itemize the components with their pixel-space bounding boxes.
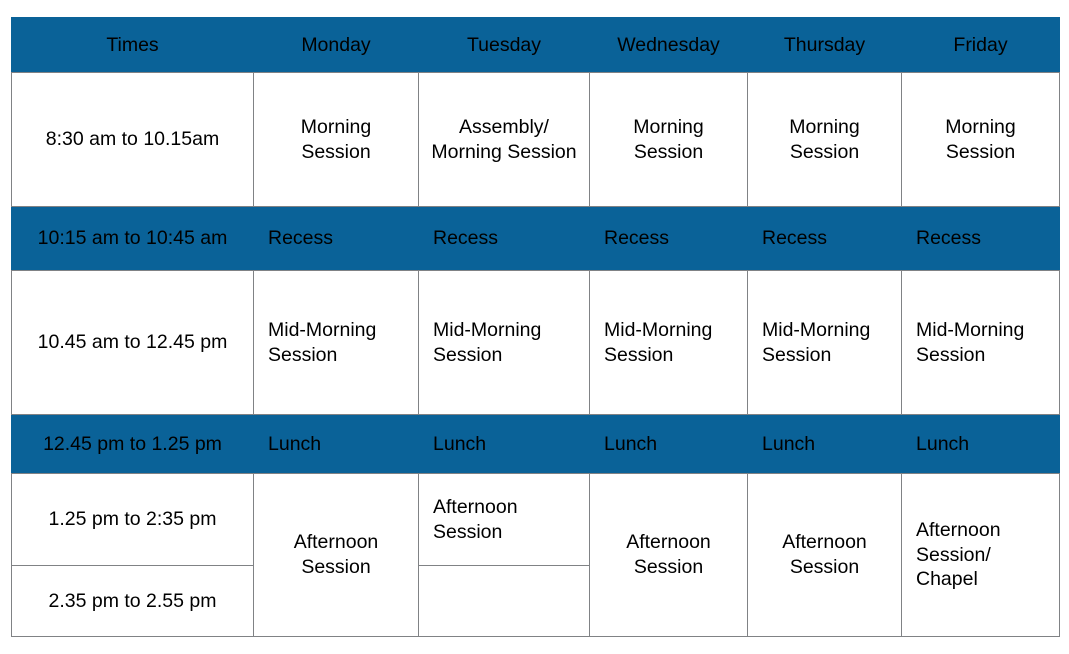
cell-thursday-morning: Morning Session: [748, 73, 902, 207]
cell-monday-lunch: Lunch: [254, 415, 419, 474]
time-slot-afternoon-second: 2.35 pm to 2.55 pm: [12, 566, 254, 637]
timetable-container: Times Monday Tuesday Wednesday Thursday …: [11, 17, 1059, 636]
cell-thursday-lunch: Lunch: [748, 415, 902, 474]
time-slot-recess: 10:15 am to 10:45 am: [12, 207, 254, 271]
column-header-thursday: Thursday: [748, 18, 902, 73]
cell-monday-recess: Recess: [254, 207, 419, 271]
cell-friday-mid-morning: Mid-Morning Session: [902, 271, 1060, 415]
weekly-timetable: Times Monday Tuesday Wednesday Thursday …: [11, 17, 1060, 637]
table-header-row: Times Monday Tuesday Wednesday Thursday …: [12, 18, 1060, 73]
table-row-mid-morning: 10.45 am to 12.45 pm Mid-Morning Session…: [12, 271, 1060, 415]
table-row-afternoon-first: 1.25 pm to 2:35 pm Afternoon Session Aft…: [12, 474, 1060, 566]
cell-tuesday-recess: Recess: [419, 207, 590, 271]
cell-wednesday-lunch: Lunch: [590, 415, 748, 474]
column-header-wednesday: Wednesday: [590, 18, 748, 73]
cell-monday-afternoon: Afternoon Session: [254, 474, 419, 637]
cell-friday-afternoon: Afternoon Session/ Chapel: [902, 474, 1060, 637]
table-row-recess: 10:15 am to 10:45 am Recess Recess Reces…: [12, 207, 1060, 271]
time-slot-afternoon-first: 1.25 pm to 2:35 pm: [12, 474, 254, 566]
table-row-lunch: 12.45 pm to 1.25 pm Lunch Lunch Lunch Lu…: [12, 415, 1060, 474]
cell-friday-recess: Recess: [902, 207, 1060, 271]
cell-friday-lunch: Lunch: [902, 415, 1060, 474]
cell-monday-morning: Morning Session: [254, 73, 419, 207]
cell-wednesday-mid-morning: Mid-Morning Session: [590, 271, 748, 415]
column-header-times: Times: [12, 18, 254, 73]
cell-thursday-afternoon: Afternoon Session: [748, 474, 902, 637]
cell-tuesday-afternoon: Afternoon Session: [419, 474, 590, 566]
cell-wednesday-morning: Morning Session: [590, 73, 748, 207]
time-slot-lunch: 12.45 pm to 1.25 pm: [12, 415, 254, 474]
column-header-monday: Monday: [254, 18, 419, 73]
cell-tuesday-morning: Assembly/ Morning Session: [419, 73, 590, 207]
cell-monday-mid-morning: Mid-Morning Session: [254, 271, 419, 415]
cell-wednesday-recess: Recess: [590, 207, 748, 271]
table-row-morning: 8:30 am to 10.15am Morning Session Assem…: [12, 73, 1060, 207]
column-header-friday: Friday: [902, 18, 1060, 73]
cell-thursday-recess: Recess: [748, 207, 902, 271]
cell-wednesday-afternoon: Afternoon Session: [590, 474, 748, 637]
cell-tuesday-lunch: Lunch: [419, 415, 590, 474]
column-header-tuesday: Tuesday: [419, 18, 590, 73]
cell-tuesday-mid-morning: Mid-Morning Session: [419, 271, 590, 415]
time-slot-morning: 8:30 am to 10.15am: [12, 73, 254, 207]
time-slot-mid-morning: 10.45 am to 12.45 pm: [12, 271, 254, 415]
cell-tuesday-afternoon-empty: [419, 566, 590, 637]
cell-friday-morning: Morning Session: [902, 73, 1060, 207]
cell-thursday-mid-morning: Mid-Morning Session: [748, 271, 902, 415]
